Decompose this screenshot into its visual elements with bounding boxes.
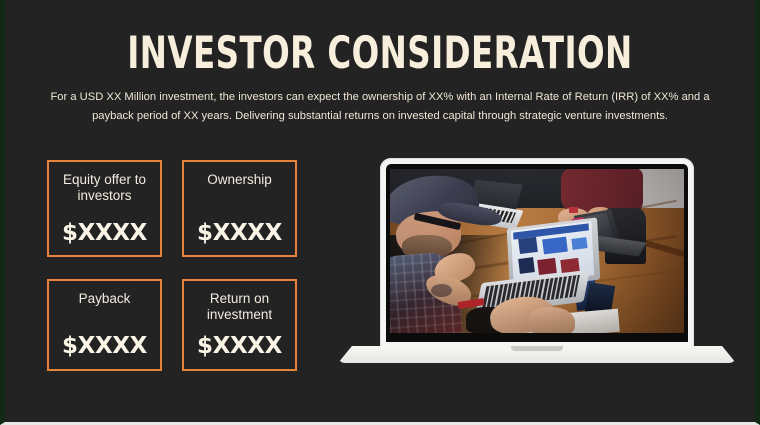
stat-card-value: $XXXX <box>197 220 282 246</box>
stat-card-equity-offer[interactable]: Equity offer to investors $XXXX <box>47 160 162 257</box>
stat-card-value: $XXXX <box>62 220 147 246</box>
stat-card-value: $XXXX <box>62 333 147 359</box>
slide-root: INVESTOR CONSIDERATION For a USD XX Mill… <box>0 0 760 425</box>
page-title: INVESTOR CONSIDERATION <box>58 29 703 78</box>
stat-card-payback[interactable]: Payback $XXXX <box>47 279 162 371</box>
stat-card-return-on-investment[interactable]: Return on investment $XXXX <box>182 279 297 371</box>
laptop-trackpad-notch <box>511 346 563 351</box>
stat-card-value: $XXXX <box>197 333 282 359</box>
stat-card-grid: Equity offer to investors $XXXX Ownershi… <box>47 160 297 372</box>
stat-card-label: Equity offer to investors <box>49 172 160 204</box>
stat-card-label: Ownership <box>203 172 276 188</box>
laptop-mockup <box>338 158 736 370</box>
photo-vignette <box>390 169 684 333</box>
stat-card-label: Payback <box>75 291 135 307</box>
laptop-screen-photo <box>390 169 684 333</box>
slide-body-text: For a USD XX Million investment, the inv… <box>50 88 710 125</box>
stat-card-ownership[interactable]: Ownership $XXXX <box>182 160 297 257</box>
team-meeting-photo <box>390 169 684 333</box>
stat-card-label: Return on investment <box>184 291 295 323</box>
